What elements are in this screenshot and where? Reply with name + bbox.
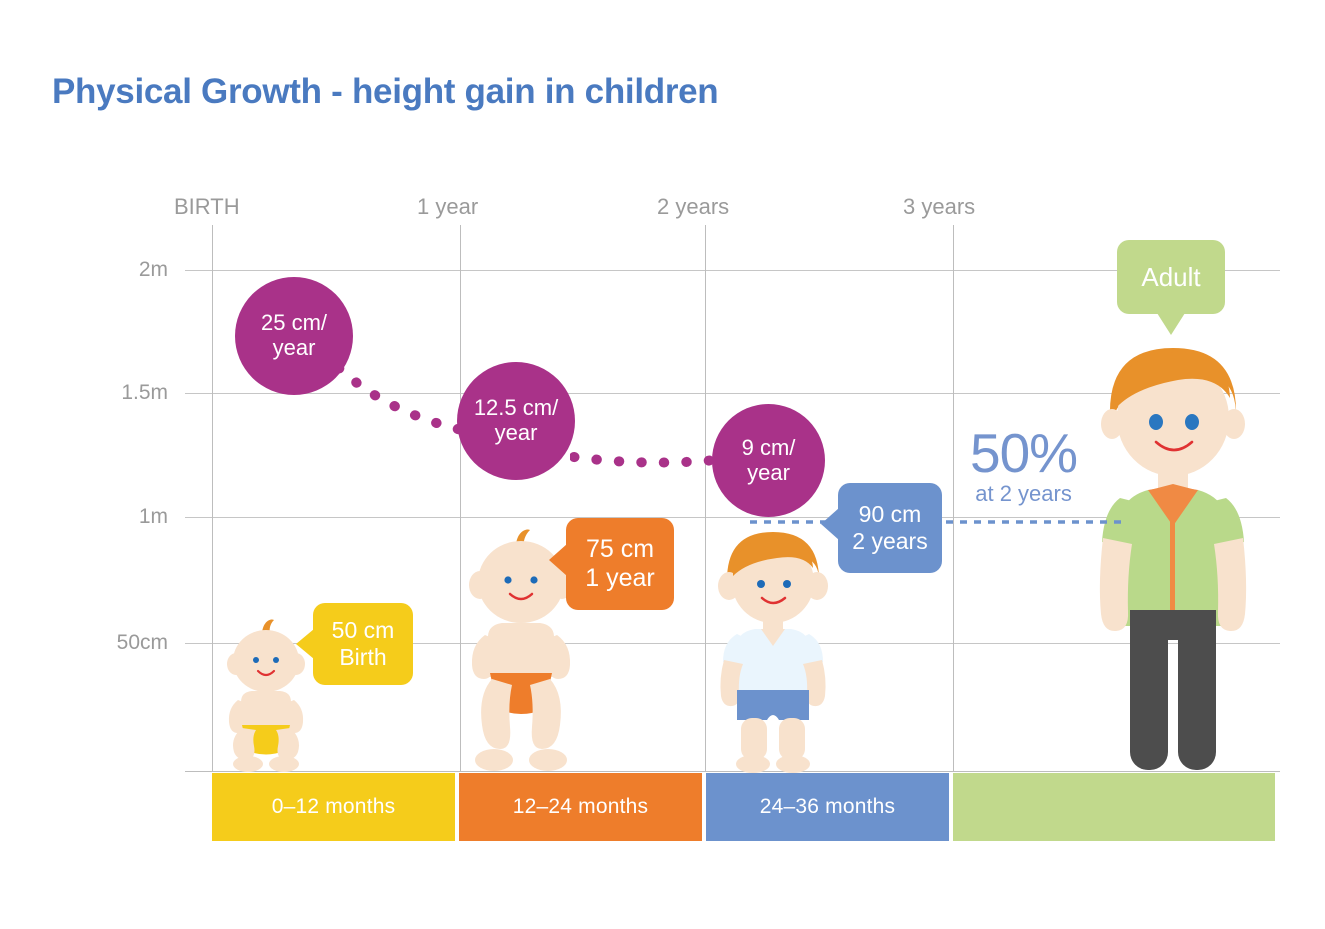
callout-tail-icon	[821, 508, 839, 540]
bubble-text: 25 cm/ year	[257, 311, 331, 360]
page-title: Physical Growth - height gain in childre…	[52, 72, 718, 112]
callout-line1: 50 cm	[332, 617, 395, 644]
bubble-text: 9 cm/ year	[738, 436, 800, 485]
callout-line2: 1 year	[585, 564, 654, 594]
fifty-percent-annotation: 50% at 2 years	[970, 427, 1077, 508]
y-axis-label-1-5m: 1.5m	[60, 381, 168, 405]
period-bar-adult	[953, 773, 1275, 841]
period-bar-0-12-months: 0–12 months	[212, 773, 455, 841]
fifty-percent-caption: at 2 years	[970, 481, 1077, 507]
rate-connector-dots-2	[570, 443, 730, 473]
bubble-text: 12.5 cm/ year	[470, 396, 562, 445]
callout-one-year-height: 75 cm 1 year	[566, 518, 674, 610]
callout-line1: 75 cm	[586, 535, 654, 565]
x-axis-label-2-years: 2 years	[657, 194, 729, 220]
x-axis-label-3-years: 3 years	[903, 194, 975, 220]
growth-rate-bubble-12-5cm: 12.5 cm/ year	[457, 362, 575, 480]
gridline-2m	[185, 270, 1280, 271]
callout-line1: Adult	[1141, 262, 1200, 293]
gridline-3-years	[953, 225, 954, 771]
callout-line1: 90 cm	[859, 501, 922, 528]
period-bar-12-24-months: 12–24 months	[459, 773, 702, 841]
growth-rate-bubble-25cm: 25 cm/ year	[235, 277, 353, 395]
period-bar-label: 12–24 months	[513, 795, 649, 819]
x-axis-label-1-year: 1 year	[417, 194, 478, 220]
period-bar-24-36-months: 24–36 months	[706, 773, 949, 841]
gridline-2-years	[705, 225, 706, 771]
callout-line2: 2 years	[852, 528, 927, 555]
callout-adult-label: Adult	[1117, 240, 1225, 314]
y-axis-label-1m: 1m	[60, 505, 168, 529]
y-axis-label-50cm: 50cm	[60, 631, 168, 655]
callout-birth-height: 50 cm Birth	[313, 603, 413, 685]
callout-two-years-height: 90 cm 2 years	[838, 483, 942, 573]
callout-line2: Birth	[339, 644, 386, 671]
figure-two-year-toddler	[707, 524, 839, 774]
gridline-birth	[212, 225, 213, 771]
infographic-canvas: Physical Growth - height gain in childre…	[0, 0, 1325, 929]
callout-tail-icon	[1157, 313, 1185, 335]
period-bar-label: 24–36 months	[760, 795, 896, 819]
callout-tail-icon	[296, 629, 314, 659]
period-bar-label: 0–12 months	[272, 795, 396, 819]
fifty-percent-value: 50%	[970, 427, 1077, 479]
growth-rate-bubble-9cm: 9 cm/ year	[712, 404, 825, 517]
callout-tail-icon	[549, 544, 567, 576]
figure-adult	[1098, 338, 1248, 774]
x-axis-label-birth: BIRTH	[174, 194, 240, 220]
y-axis-label-2m: 2m	[60, 258, 168, 282]
